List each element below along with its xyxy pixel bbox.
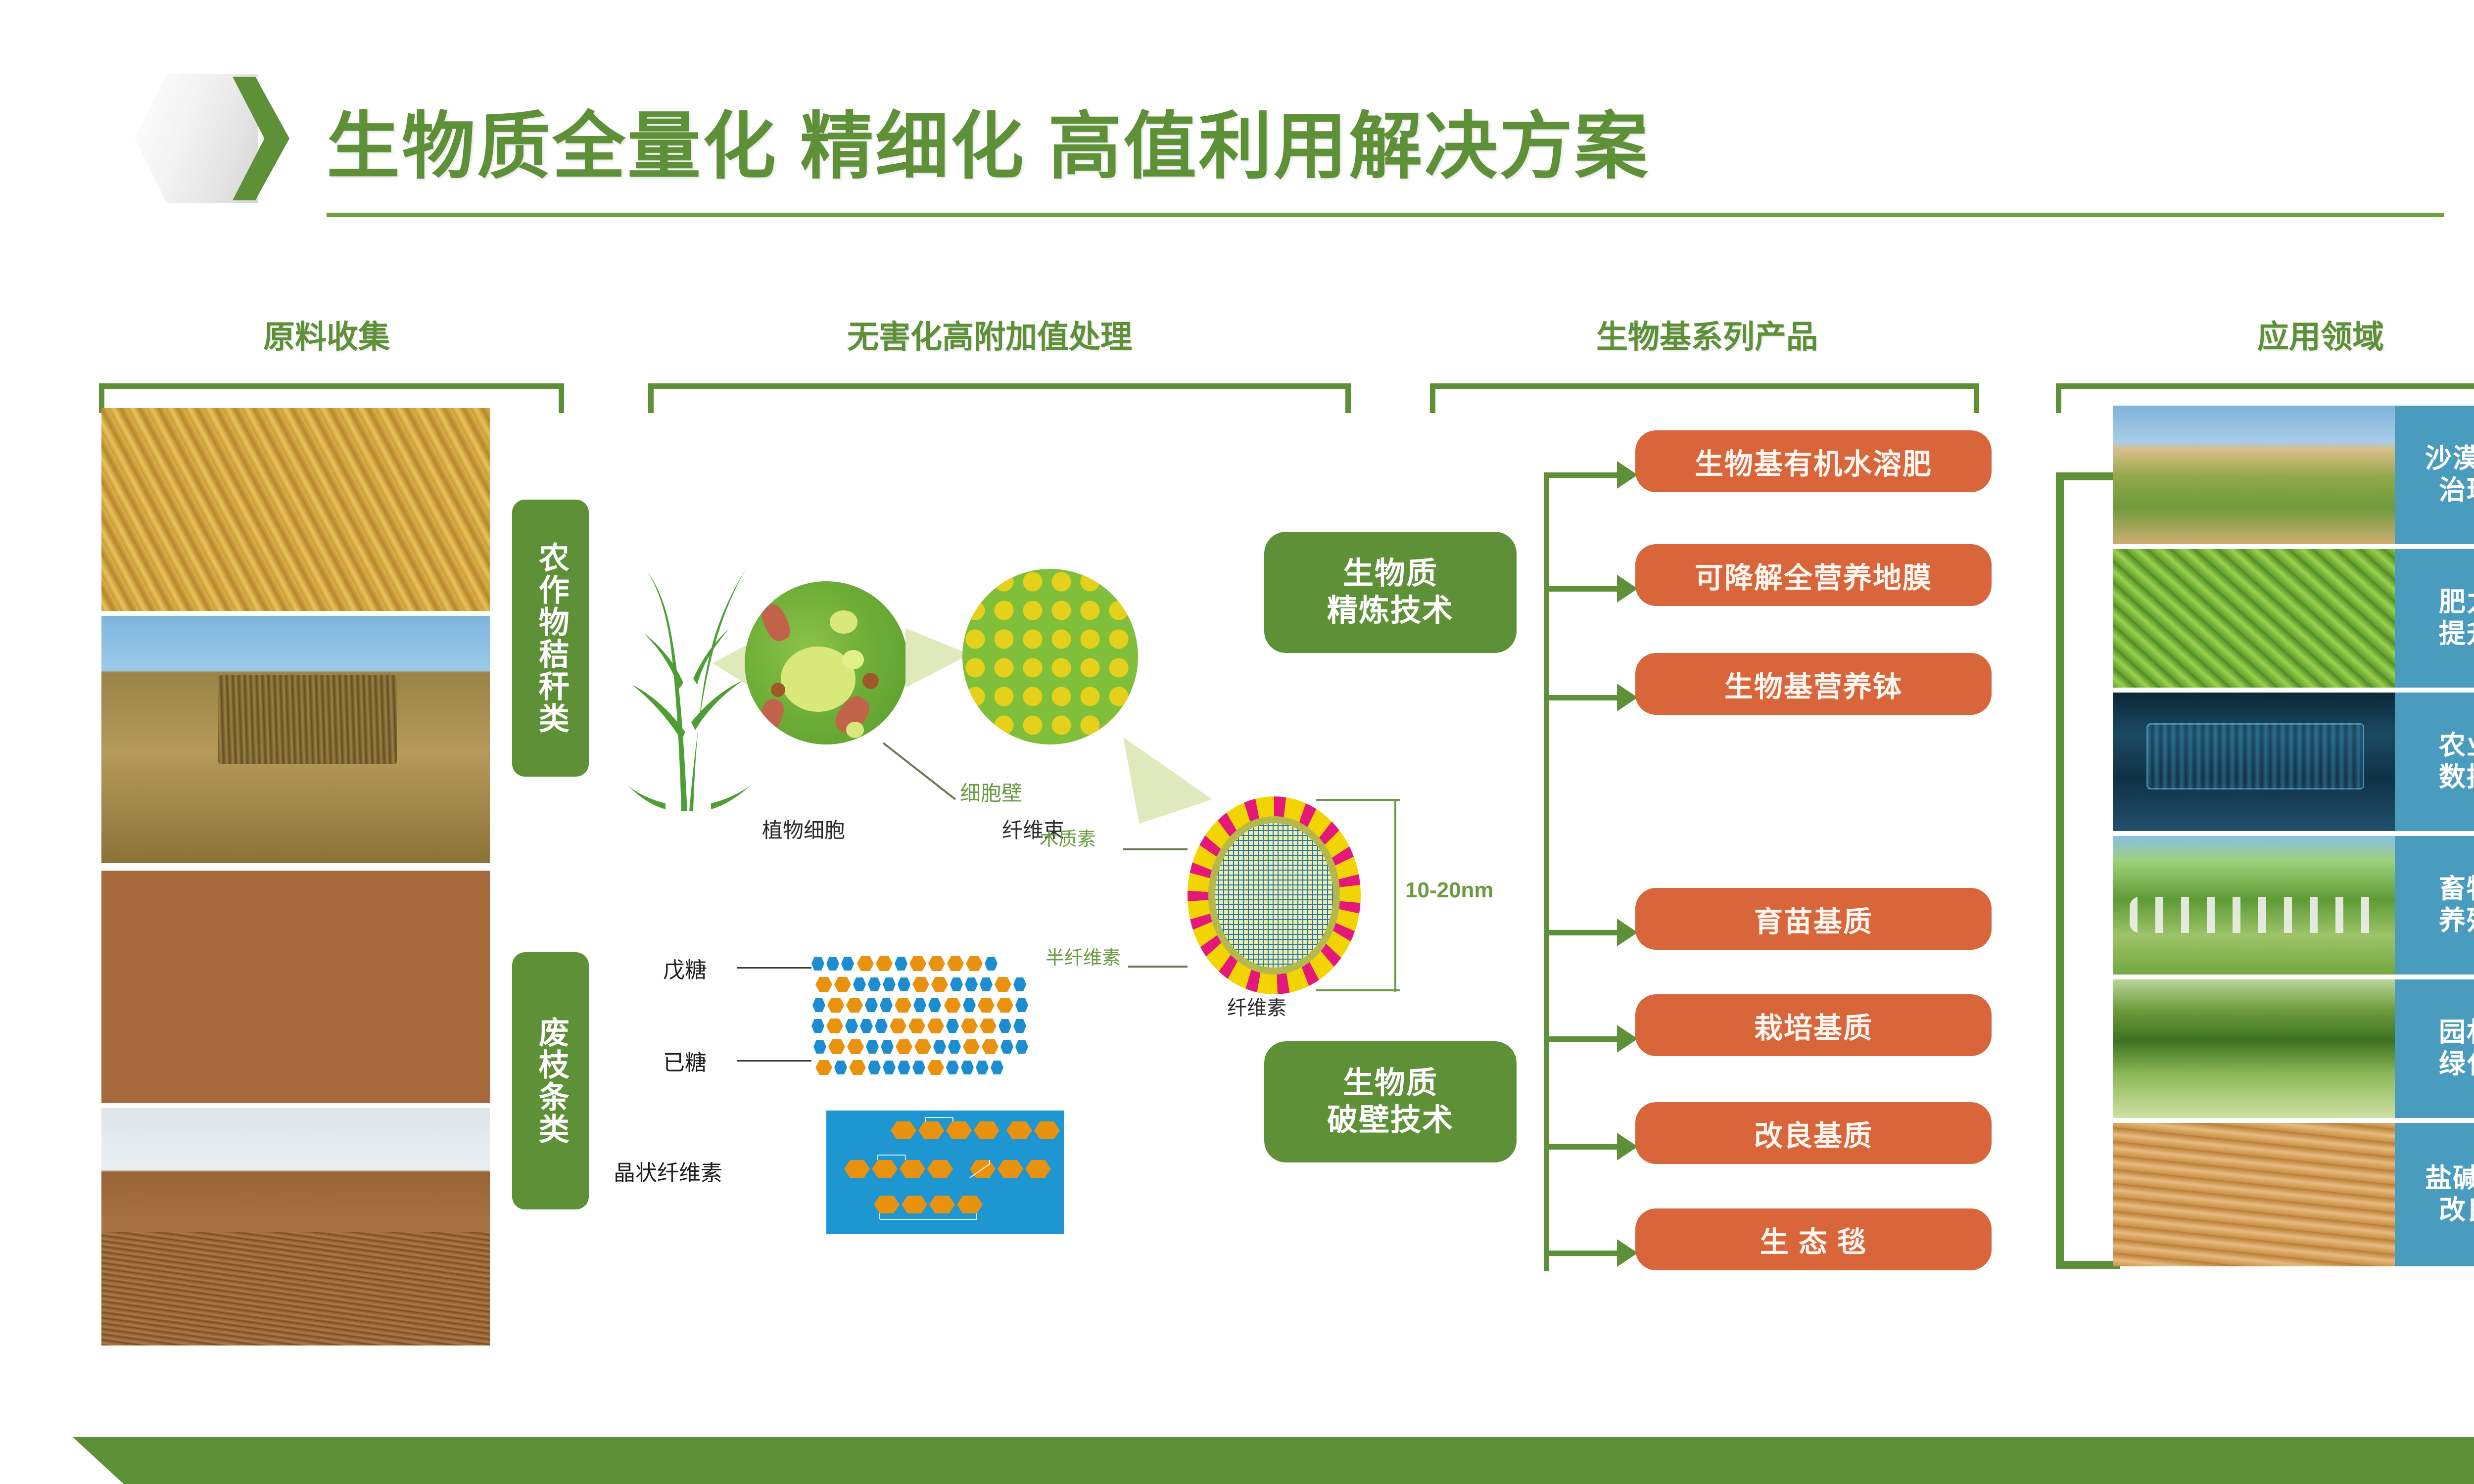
- arrowhead-breakwall-3: [1617, 1133, 1638, 1160]
- photo-saline-land: [2113, 1123, 2395, 1266]
- product-pill-seedling-substrate: 育苗基质: [1635, 888, 1992, 950]
- connector-branch-breakwall-4: [1544, 1251, 1618, 1256]
- photo-sheep-grazing: [2113, 836, 2395, 974]
- application-line-1: 盐碱地: [2425, 1163, 2474, 1195]
- crystalline-cellulose-illustration: [826, 1111, 1064, 1234]
- application-line-1: 畜牧: [2439, 874, 2474, 905]
- tech-box-biomass-wall-breaking: 生物质 破壁技术: [1264, 1041, 1517, 1162]
- application-row-livestock-breeding: 畜牧 养殖: [2113, 836, 2474, 974]
- tech-line-1: 生物质: [1343, 1065, 1438, 1102]
- tech-line-2: 精炼技术: [1327, 593, 1454, 629]
- label-lignin: 木质素: [1040, 824, 1096, 851]
- label-pentose: 戊糖: [663, 952, 707, 984]
- footer-corner-left: [0, 1370, 124, 1484]
- hexagon-badge-icon: [135, 74, 258, 203]
- label-cellulose: 纤维素: [1227, 992, 1286, 1020]
- pentose-leader-line: [737, 967, 811, 969]
- application-tag-fertility-improvement: 肥力 提升: [2395, 549, 2474, 688]
- application-line-1: 园林: [2439, 1017, 2474, 1049]
- application-row-agriculture-data: 农业 数据: [2113, 693, 2474, 831]
- category-label-waste-branches: 废枝条类: [512, 952, 589, 1209]
- hexose-leader-line: [737, 1060, 811, 1062]
- application-line-2: 养殖: [2439, 905, 2474, 937]
- dimension-line: [1394, 799, 1396, 992]
- title-zone: 生物质全量化 精细化 高值利用解决方案: [0, 0, 2474, 247]
- application-line-2: 提升: [2439, 618, 2474, 650]
- category-label-crop-straw: 农作物秸秆类: [512, 500, 589, 777]
- lignin-leader-line: [1123, 848, 1188, 850]
- arrowhead-breakwall-4: [1617, 1239, 1638, 1267]
- section-header-products: 生物基系列产品: [1435, 312, 1979, 357]
- application-line-1: 沙漠化: [2425, 443, 2474, 475]
- dimension-tick-bottom: [1316, 989, 1400, 991]
- connector-branch-breakwall-2: [1544, 1036, 1618, 1042]
- tech-line-1: 生物质: [1343, 556, 1438, 592]
- arrowhead-refining-3: [1617, 684, 1638, 711]
- photo-dry-branches: [101, 871, 490, 1103]
- product-pill-ecological-blanket: 生 态 毯: [1635, 1208, 1992, 1270]
- section-bracket-products: [1430, 383, 1979, 413]
- dimension-tick-top: [1316, 799, 1400, 801]
- arrowhead-refining-2: [1617, 575, 1638, 603]
- photo-cabbage-field: [2113, 549, 2395, 688]
- connector-branch-refining-2: [1544, 586, 1618, 592]
- arrowhead-refining-1: [1617, 461, 1638, 489]
- label-crystalline-cellulose: 晶状纤维素: [614, 1155, 722, 1187]
- application-line-2: 治理: [2439, 475, 2474, 507]
- application-tag-agriculture-data: 农业 数据: [2395, 693, 2474, 831]
- connector-spine-breakwall: [1544, 930, 1549, 1271]
- application-tag-landscape-greening: 园林 绿化: [2395, 979, 2474, 1118]
- photo-agriculture-data-center: [2113, 693, 2395, 831]
- application-row-landscape-greening: 园林 绿化: [2113, 979, 2474, 1118]
- footer-bar: [0, 1437, 2474, 1484]
- application-line-2: 绿化: [2439, 1049, 2474, 1080]
- arrowhead-breakwall-1: [1617, 919, 1638, 946]
- application-row-desert-control: 沙漠化 治理: [2113, 406, 2474, 544]
- cellulose-fiber-illustration: [1188, 796, 1361, 994]
- connector-branch-breakwall-1: [1544, 930, 1618, 935]
- hemicellulose-leader-line: [1128, 966, 1188, 968]
- fiber-bundle-illustration: [962, 569, 1138, 744]
- arrowhead-breakwall-2: [1617, 1025, 1638, 1053]
- application-line-1: 农业: [2439, 730, 2474, 762]
- application-tag-desert-control: 沙漠化 治理: [2395, 406, 2474, 544]
- tech-box-biomass-refining: 生物质 精炼技术: [1264, 532, 1517, 653]
- application-line-2: 数据: [2439, 762, 2474, 793]
- connector-spine-refining: [1544, 472, 1549, 967]
- application-line-1: 肥力: [2439, 587, 2474, 618]
- photo-straw-bale: [101, 616, 490, 863]
- cell-wall-leader-line: [883, 742, 956, 800]
- application-row-fertility-improvement: 肥力 提升: [2113, 549, 2474, 688]
- title-divider: [327, 213, 2444, 217]
- section-header-raw-collection: 原料收集: [153, 312, 500, 357]
- product-pill-biobased-nutrition-pot: 生物基营养钵: [1635, 653, 1992, 715]
- label-plant-cell: 植物细胞: [762, 814, 845, 844]
- label-nanometer-dimension: 10-20nm: [1405, 878, 1494, 903]
- application-tag-livestock-breeding: 畜牧 养殖: [2395, 836, 2474, 974]
- label-cell-wall: 细胞壁: [960, 777, 1022, 807]
- connector-branch-refining-1: [1544, 472, 1618, 478]
- page-title: 生物质全量化 精细化 高值利用解决方案: [327, 87, 1650, 193]
- connector-branch-breakwall-3: [1544, 1144, 1618, 1150]
- application-row-saline-land: 盐碱地 改良: [2113, 1123, 2474, 1266]
- photo-corn-straw: [101, 408, 490, 611]
- plant-cell-illustration: [745, 581, 908, 744]
- magnify-beam-3: [1123, 737, 1212, 824]
- section-header-processing: 无害化高附加值处理: [693, 312, 1286, 357]
- product-pill-cultivation-substrate: 栽培基质: [1635, 994, 1992, 1056]
- connector-branch-refining-3: [1544, 695, 1618, 700]
- section-bracket-processing: [648, 383, 1351, 413]
- photo-orchard-pruning: [101, 1108, 490, 1345]
- product-pill-improvement-substrate: 改良基质: [1635, 1102, 1992, 1164]
- label-hexose: 已糖: [663, 1045, 707, 1076]
- magnify-beam-2: [905, 628, 970, 688]
- photo-landscape-greening: [2113, 979, 2395, 1118]
- photo-desert-control: [2113, 406, 2395, 544]
- applications-bracket: [2056, 472, 2120, 1269]
- product-pill-organic-water-soluble-fertilizer: 生物基有机水溶肥: [1635, 430, 1992, 492]
- application-line-2: 改良: [2439, 1195, 2474, 1226]
- sugar-chain-illustration: [811, 955, 1118, 1083]
- tech-line-2: 破壁技术: [1327, 1102, 1454, 1139]
- section-header-applications: 应用领域: [2123, 312, 2474, 357]
- product-pill-degradable-mulch-film: 可降解全营养地膜: [1635, 544, 1992, 606]
- application-tag-saline-land: 盐碱地 改良: [2395, 1123, 2474, 1266]
